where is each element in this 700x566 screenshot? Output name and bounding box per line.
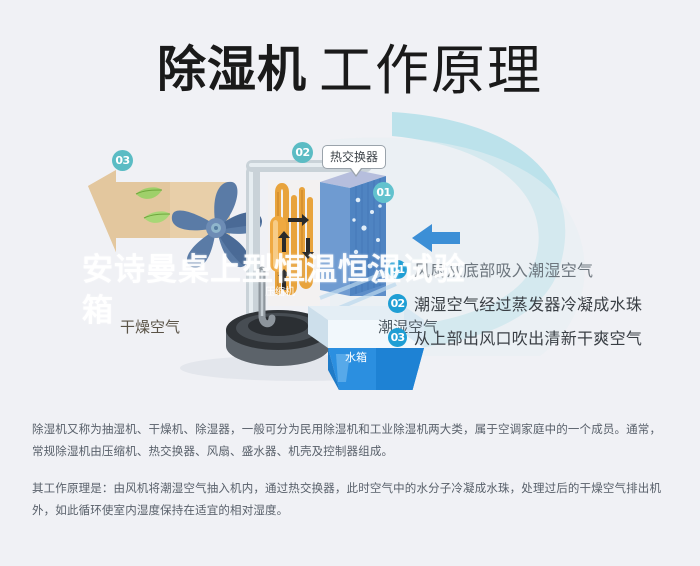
step-badge-03: 03 <box>388 328 407 347</box>
label-dry-air: 干燥空气 <box>120 316 180 337</box>
list-item: 01 风扇从底部吸入潮湿空气 <box>388 252 678 286</box>
page-title-secondary: 工作原理 <box>319 39 543 102</box>
diagram-badge-01: 01 <box>373 182 394 203</box>
dehumidifier-infographic-page: 除湿机工作原理 <box>0 0 700 566</box>
label-compressor: 压缩机 <box>265 283 295 298</box>
paragraph-principle: 其工作原理是：由风机将潮湿空气抽入机内，通过热交换器，此时空气中的水分子冷凝成水… <box>32 477 672 522</box>
heat-exchanger-callout: 热交换器 <box>322 145 386 169</box>
page-title-primary: 除湿机 <box>157 41 307 98</box>
step-badge-02: 02 <box>388 294 407 313</box>
step-text-02: 潮湿空气经过蒸发器冷凝成水珠 <box>414 291 642 315</box>
paragraph-definition: 除湿机又称为抽湿机、干燥机、除湿器，一般可分为民用除湿机和工业除湿机两大类，属于… <box>32 418 672 463</box>
label-water-tank: 水箱 <box>345 349 367 365</box>
process-steps-list: 01 风扇从底部吸入潮湿空气 02 潮湿空气经过蒸发器冷凝成水珠 03 从上部出… <box>388 252 678 354</box>
list-item: 02 潮湿空气经过蒸发器冷凝成水珠 <box>388 286 678 320</box>
step-text-03: 从上部出风口吹出清新干爽空气 <box>414 325 642 349</box>
page-title: 除湿机工作原理 <box>0 26 700 105</box>
diagram-badge-02: 02 <box>292 142 313 163</box>
list-item: 03 从上部出风口吹出清新干爽空气 <box>388 320 678 354</box>
description-text-block: 除湿机又称为抽湿机、干燥机、除湿器，一般可分为民用除湿机和工业除湿机两大类，属于… <box>32 418 672 522</box>
humid-air-arrow-icon <box>412 224 460 252</box>
diagram-badge-03: 03 <box>112 150 133 171</box>
step-text-01: 风扇从底部吸入潮湿空气 <box>414 257 593 281</box>
step-badge-01: 01 <box>388 260 407 279</box>
